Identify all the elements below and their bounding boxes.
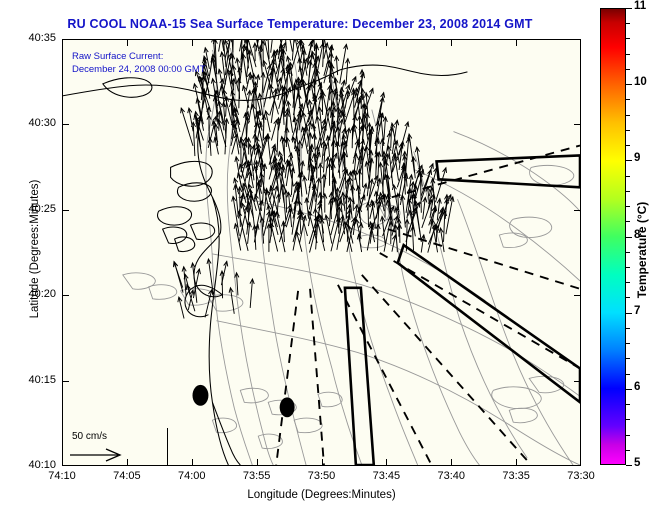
colorbar-minor-tick bbox=[626, 419, 630, 420]
current-vector bbox=[400, 174, 406, 205]
x-tick-label: 73:30 bbox=[551, 470, 611, 482]
colorbar-minor-tick bbox=[626, 358, 630, 359]
x-tick-mark bbox=[386, 459, 387, 466]
colorbar-minor-tick bbox=[626, 23, 630, 24]
x-tick-label: 73:35 bbox=[486, 470, 546, 482]
x-tick-mark bbox=[516, 459, 517, 466]
colorbar-minor-tick bbox=[626, 328, 630, 329]
colorbar-minor-tick bbox=[626, 191, 630, 192]
figure-title: RU COOL NOAA-15 Sea Surface Temperature:… bbox=[0, 17, 600, 31]
current-vector bbox=[222, 271, 223, 298]
x-axis-title: Longitude (Degrees:Minutes) bbox=[62, 489, 581, 501]
colorbar-tick bbox=[626, 465, 632, 466]
current-vector bbox=[317, 146, 318, 178]
current-vector bbox=[247, 193, 248, 210]
x-tick-mark bbox=[322, 459, 323, 466]
colorbar-minor-tick bbox=[626, 374, 630, 375]
y-axis-title: Latitude (Degrees:Minutes) bbox=[29, 129, 41, 369]
colorbar-minor-tick bbox=[626, 54, 630, 55]
colorbar-minor-tick bbox=[626, 115, 630, 116]
x-tick-label: 73:45 bbox=[356, 470, 416, 482]
colorbar-minor-tick bbox=[626, 282, 630, 283]
y-tick-label: 40:35 bbox=[4, 32, 56, 44]
x-tick-label: 73:50 bbox=[292, 470, 352, 482]
current-vector bbox=[193, 122, 195, 156]
current-vector bbox=[288, 101, 293, 133]
current-vector bbox=[287, 40, 293, 52]
x-tick-mark bbox=[192, 39, 193, 46]
colorbar-tick-label: 10 bbox=[634, 76, 647, 88]
current-vector bbox=[339, 207, 340, 234]
station-marker bbox=[280, 397, 295, 417]
colorbar-minor-tick bbox=[626, 38, 630, 39]
colorbar-minor-tick bbox=[626, 343, 630, 344]
current-vector bbox=[402, 195, 405, 227]
colorbar-tick bbox=[626, 313, 632, 314]
current-vector bbox=[271, 223, 278, 252]
map-layers bbox=[63, 40, 580, 465]
colorbar-minor-tick bbox=[626, 69, 630, 70]
temperature-colorbar bbox=[600, 8, 626, 465]
x-tick-mark bbox=[386, 39, 387, 46]
x-tick-mark bbox=[516, 39, 517, 46]
y-tick-mark bbox=[62, 295, 69, 296]
current-vector bbox=[174, 262, 183, 293]
x-tick-label: 74:05 bbox=[97, 470, 157, 482]
current-vector bbox=[263, 115, 264, 138]
current-vector bbox=[347, 77, 355, 99]
colorbar-minor-tick bbox=[626, 404, 630, 405]
current-vector bbox=[428, 225, 436, 253]
current-annotation: Raw Surface Current: December 24, 2008 0… bbox=[72, 50, 206, 76]
current-vector bbox=[324, 157, 328, 188]
y-tick-mark bbox=[62, 381, 69, 382]
y-tick-mark bbox=[62, 124, 69, 125]
colorbar-tick-label: 9 bbox=[634, 152, 640, 164]
x-tick-mark bbox=[257, 39, 258, 46]
station-marker bbox=[192, 385, 208, 406]
colorbar-minor-tick bbox=[626, 130, 630, 131]
current-vector bbox=[240, 187, 241, 227]
current-vector bbox=[237, 273, 238, 296]
annotation-line-2: December 24, 2008 00:00 GMT bbox=[72, 63, 206, 76]
current-vector bbox=[285, 40, 286, 51]
y-tick-label: 40:30 bbox=[4, 117, 56, 129]
sst-current-map-figure: RU COOL NOAA-15 Sea Surface Temperature:… bbox=[0, 0, 651, 519]
current-vector bbox=[444, 211, 445, 242]
current-vector bbox=[436, 226, 437, 242]
colorbar-minor-tick bbox=[626, 221, 630, 222]
current-vector bbox=[340, 44, 347, 83]
x-tick-label: 74:10 bbox=[32, 470, 92, 482]
current-vector bbox=[409, 134, 414, 173]
colorbar-minor-tick bbox=[626, 99, 630, 100]
colorbar-minor-tick bbox=[626, 206, 630, 207]
current-vector bbox=[391, 128, 392, 148]
x-tick-label: 73:40 bbox=[421, 470, 481, 482]
current-vector bbox=[416, 201, 422, 242]
map-plot-area bbox=[62, 39, 581, 466]
colorbar-minor-tick bbox=[626, 252, 630, 253]
annotation-line-1: Raw Surface Current: bbox=[72, 50, 206, 63]
current-vector bbox=[399, 122, 408, 155]
x-tick-mark bbox=[192, 459, 193, 466]
y-tick-mark bbox=[574, 210, 581, 211]
colorbar-tick bbox=[626, 389, 632, 390]
colorbar-tick bbox=[626, 84, 632, 85]
colorbar-tick bbox=[626, 237, 632, 238]
current-vector bbox=[286, 190, 287, 212]
y-tick-mark bbox=[574, 295, 581, 296]
x-tick-mark bbox=[451, 459, 452, 466]
y-tick-mark bbox=[574, 124, 581, 125]
colorbar-tick-label: 11 bbox=[634, 0, 646, 12]
colorbar-minor-tick bbox=[626, 297, 630, 298]
x-tick-mark bbox=[451, 39, 452, 46]
colorbar-minor-tick bbox=[626, 435, 630, 436]
x-tick-mark bbox=[322, 39, 323, 46]
colorbar-tick-label: 5 bbox=[634, 457, 640, 469]
current-vector bbox=[243, 54, 247, 84]
x-tick-label: 74:00 bbox=[162, 470, 222, 482]
y-tick-mark bbox=[574, 381, 581, 382]
current-vector bbox=[271, 89, 276, 123]
current-vector bbox=[254, 88, 255, 107]
x-tick-mark bbox=[127, 39, 128, 46]
colorbar-minor-tick bbox=[626, 450, 630, 451]
colorbar-minor-tick bbox=[626, 267, 630, 268]
colorbar-tick-label: 6 bbox=[634, 381, 640, 393]
colorbar-title: Temperature (°C) bbox=[635, 170, 649, 330]
y-tick-label: 40:15 bbox=[4, 374, 56, 386]
current-vector bbox=[412, 227, 413, 251]
colorbar-tick bbox=[626, 8, 632, 9]
colorbar-tick bbox=[626, 160, 632, 161]
x-tick-label: 73:55 bbox=[227, 470, 287, 482]
y-tick-mark bbox=[62, 210, 69, 211]
current-vector bbox=[181, 108, 193, 146]
x-tick-mark bbox=[257, 459, 258, 466]
scale-legend-label: 50 cm/s bbox=[72, 431, 107, 442]
right-arrow-icon bbox=[68, 448, 128, 462]
y-tick-label: 40:10 bbox=[4, 459, 56, 471]
current-vector bbox=[376, 139, 377, 180]
colorbar-minor-tick bbox=[626, 176, 630, 177]
colorbar-minor-tick bbox=[626, 145, 630, 146]
